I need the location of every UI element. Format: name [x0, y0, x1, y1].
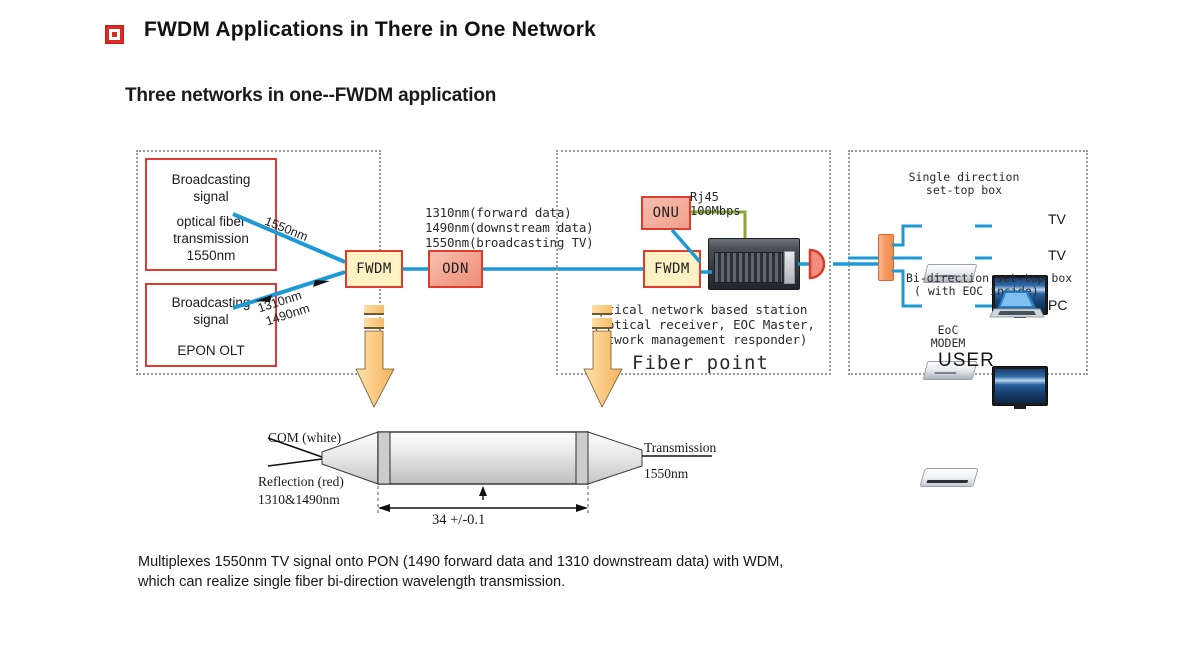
odn-node[interactable]: ODN — [428, 250, 483, 288]
eoc-modem-icon — [919, 468, 978, 487]
rj45-line-1: 100Mbps — [690, 204, 741, 218]
caption-line-1: Multiplexes 1550nm TV signal onto PON (1… — [138, 552, 1098, 572]
fwdm-left-node[interactable]: FWDM — [345, 250, 403, 288]
reflection-wavelengths-label: 1310&1490nm — [258, 492, 340, 508]
broadcast-1550-line-3: transmission — [147, 230, 275, 247]
fiber-point-title: Fiber point — [632, 352, 769, 374]
optical-splitter-icon — [878, 234, 894, 281]
single-stb-label: Single direction set-top box — [900, 171, 1028, 197]
broadcast-1550-line-0: Broadcasting — [147, 171, 275, 188]
epon-line-1: signal — [147, 311, 275, 328]
epon-olt-box: Broadcasting signal EPON OLT — [145, 283, 277, 367]
tv-label-2: TV — [1048, 247, 1066, 263]
fwdm-left-callout-arrow-icon — [356, 305, 398, 410]
caption-line-2: which can realize single fiber bi-direct… — [138, 572, 1098, 592]
fwdm-right-callout-arrow-icon — [584, 305, 626, 410]
user-block-title: USER — [938, 350, 995, 372]
transmission-port-label: Transmission — [644, 440, 716, 456]
transmission-wavelength-label: 1550nm — [644, 466, 688, 482]
rj45-line-0: Rj45 — [690, 190, 741, 204]
com-port-label: COM (white) — [268, 430, 341, 446]
reflection-port-label: Reflection (red) — [258, 474, 344, 490]
rj45-label: Rj45 100Mbps — [690, 190, 741, 218]
broadcast-1550-box: Broadcasting signal optical fiber transm… — [145, 158, 277, 271]
red-square-bullet-icon — [105, 25, 124, 44]
broadcast-1550-line-1: signal — [147, 188, 275, 205]
broadcast-1550-line-2: optical fiber — [147, 213, 275, 230]
eoc-modem-line-1: MODEM — [924, 337, 972, 350]
tv-icon-2 — [992, 366, 1048, 406]
single-stb-line-1: set-top box — [900, 184, 1028, 197]
page-title: FWDM Applications in There in One Networ… — [144, 18, 596, 42]
optical-receiver-rack-icon — [708, 238, 800, 290]
fwdm-right-node[interactable]: FWDM — [643, 250, 701, 288]
tv-label-1: TV — [1048, 211, 1066, 227]
eoc-modem-label: EoC MODEM — [924, 324, 972, 350]
pc-label: PC — [1048, 297, 1067, 313]
laptop-pc-icon — [990, 290, 1046, 320]
diagram-subtitle: Three networks in one--FWDM application — [125, 85, 496, 107]
broadcast-1550-line-4: 1550nm — [147, 247, 275, 264]
slide-caption: Multiplexes 1550nm TV signal onto PON (1… — [138, 552, 1098, 592]
epon-line-2: EPON OLT — [147, 342, 275, 359]
dimension-label: 34 +/-0.1 — [432, 512, 485, 529]
onu-node[interactable]: ONU — [641, 196, 691, 230]
